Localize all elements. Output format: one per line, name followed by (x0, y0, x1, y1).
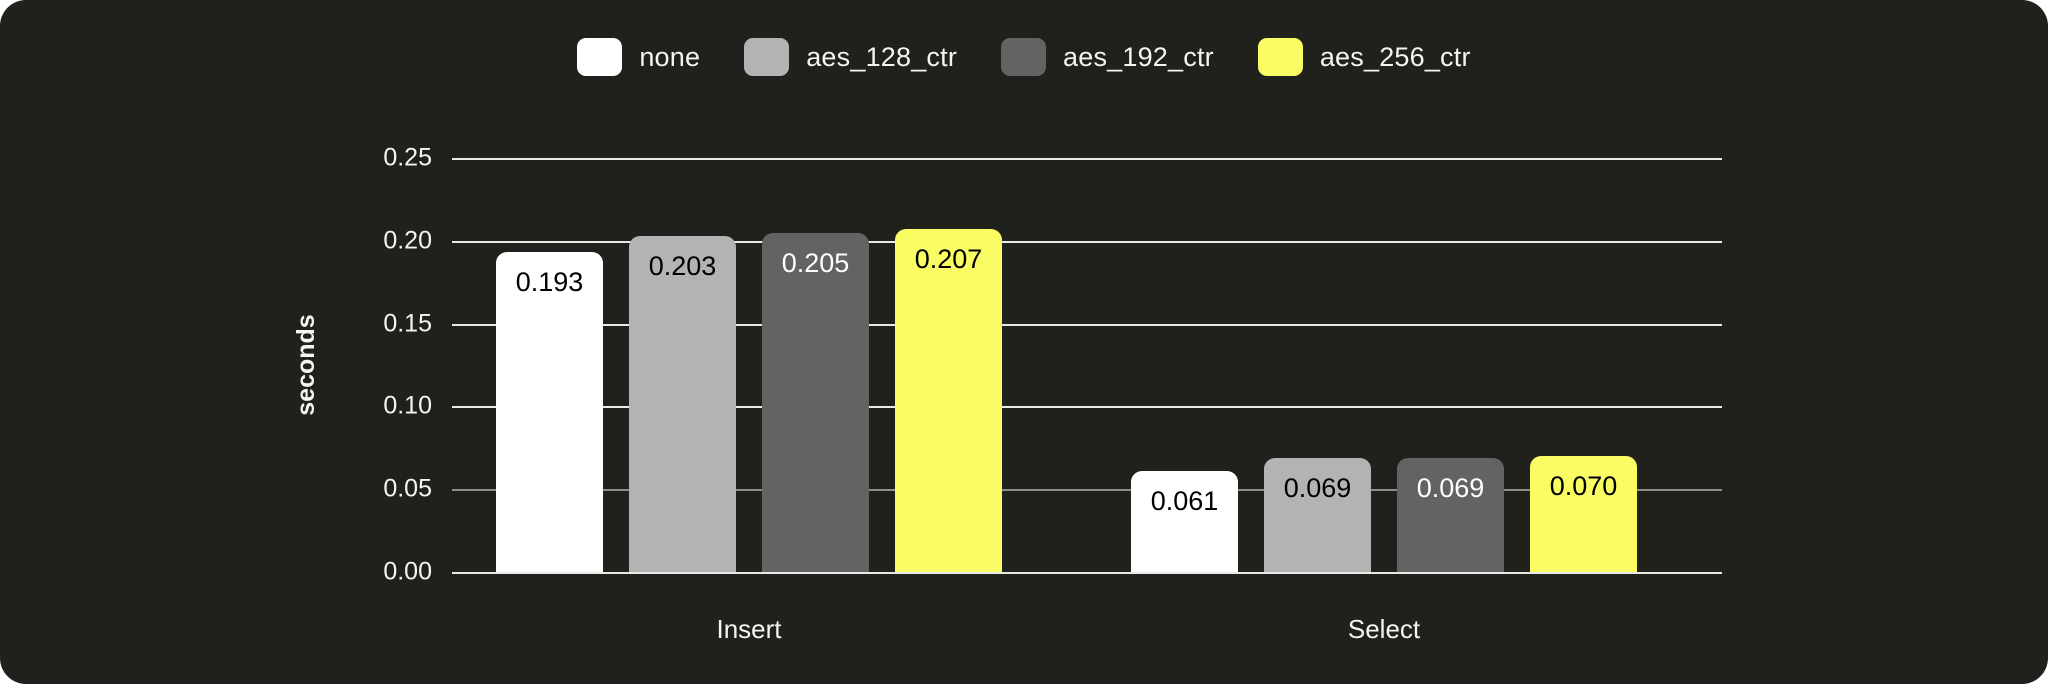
y-tick-label: 0.20 (383, 226, 432, 255)
y-axis-title: seconds (292, 314, 321, 415)
bar-select-aes-128-ctr[interactable]: 0.069 (1264, 458, 1371, 572)
chart-legend: none aes_128_ctr aes_192_ctr aes_256_ctr (0, 38, 2048, 76)
x-axis-label-insert: Insert (496, 614, 1002, 645)
bar-select-none[interactable]: 0.061 (1131, 471, 1238, 572)
bar-value-label: 0.069 (1284, 475, 1352, 502)
x-axis-label-select: Select (1131, 614, 1637, 645)
legend-label-aes-256-ctr: aes_256_ctr (1320, 42, 1471, 73)
y-tick-label: 0.00 (383, 558, 432, 587)
bar-group-select: 0.0610.0690.0690.070Select (1131, 158, 1637, 572)
gridline (452, 572, 1722, 574)
bar-value-label: 0.061 (1151, 488, 1219, 515)
y-tick-label: 0.25 (383, 144, 432, 173)
y-tick-label: 0.05 (383, 475, 432, 504)
bars-layer: 0.1930.2030.2050.207Insert0.0610.0690.06… (452, 158, 1722, 572)
bar-value-label: 0.070 (1550, 473, 1618, 500)
bar-select-aes-192-ctr[interactable]: 0.069 (1397, 458, 1504, 572)
bar-insert-aes-256-ctr[interactable]: 0.207 (895, 229, 1002, 572)
legend-swatch-aes-256-ctr (1258, 38, 1303, 76)
bar-select-aes-256-ctr[interactable]: 0.070 (1530, 456, 1637, 572)
bar-value-label: 0.069 (1417, 475, 1485, 502)
legend-swatch-aes-128-ctr (744, 38, 789, 76)
bar-value-label: 0.193 (516, 269, 584, 296)
bar-insert-none[interactable]: 0.193 (496, 252, 603, 572)
bar-value-label: 0.205 (782, 250, 850, 277)
legend-label-aes-128-ctr: aes_128_ctr (806, 42, 957, 73)
bar-insert-aes-192-ctr[interactable]: 0.205 (762, 233, 869, 572)
legend-item-aes-192-ctr[interactable]: aes_192_ctr (1001, 38, 1214, 76)
legend-item-none[interactable]: none (577, 38, 700, 76)
legend-item-aes-128-ctr[interactable]: aes_128_ctr (744, 38, 957, 76)
chart-card: none aes_128_ctr aes_192_ctr aes_256_ctr… (0, 0, 2048, 684)
legend-label-aes-192-ctr: aes_192_ctr (1063, 42, 1214, 73)
y-tick-label: 0.10 (383, 392, 432, 421)
bar-value-label: 0.207 (915, 246, 983, 273)
bar-value-label: 0.203 (649, 253, 717, 280)
bar-insert-aes-128-ctr[interactable]: 0.203 (629, 236, 736, 572)
bar-group-insert: 0.1930.2030.2050.207Insert (496, 158, 1002, 572)
legend-label-none: none (639, 42, 700, 73)
legend-item-aes-256-ctr[interactable]: aes_256_ctr (1258, 38, 1471, 76)
plot-area: seconds 0.250.200.150.100.050.00 0.1930.… (452, 158, 1722, 572)
legend-swatch-aes-192-ctr (1001, 38, 1046, 76)
y-tick-label: 0.15 (383, 309, 432, 338)
legend-swatch-none (577, 38, 622, 76)
